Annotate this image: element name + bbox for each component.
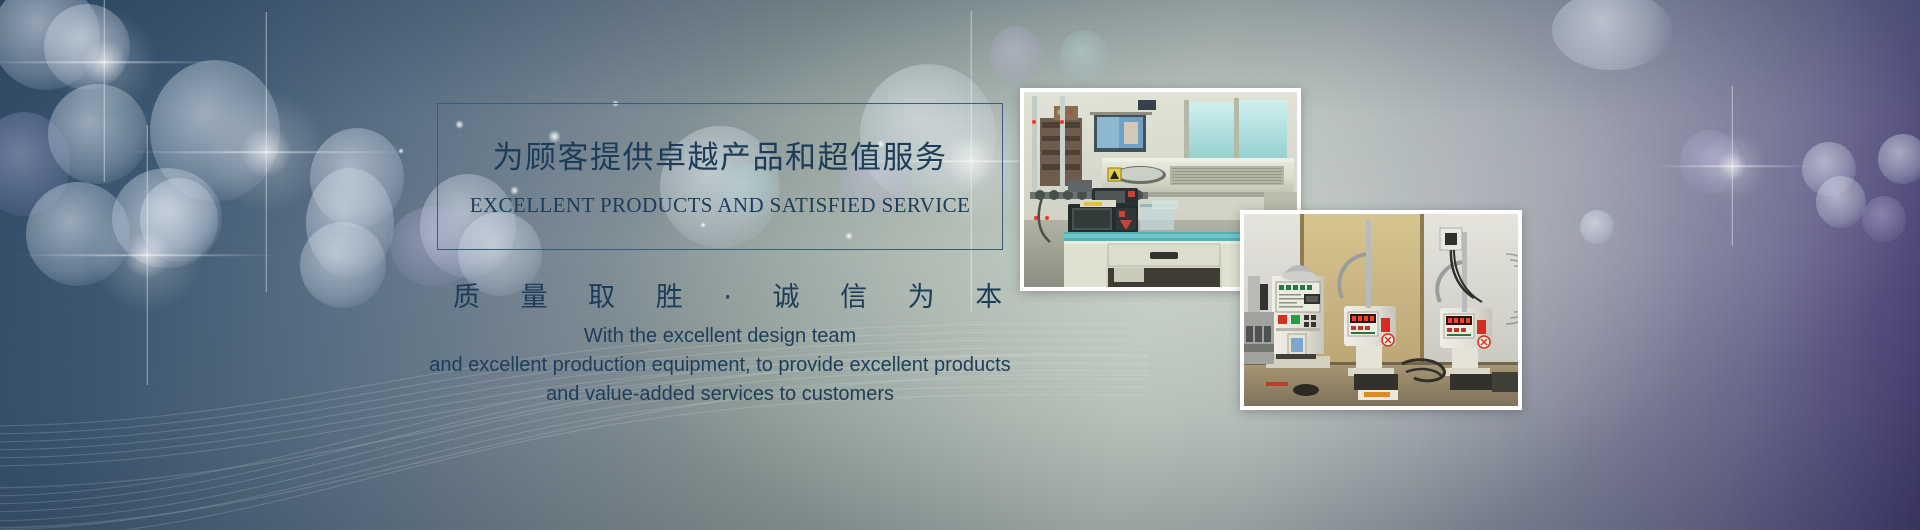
paragraph-line-1: With the excellent design team (330, 322, 1110, 351)
background-sheen (0, 0, 1920, 530)
paragraph-line-3: and value-added services to customers (330, 380, 1110, 409)
headline-english: EXCELLENT PRODUCTS AND SATISFIED SERVICE (437, 193, 1003, 218)
photo-press-machines[interactable] (1240, 210, 1522, 410)
slogan-chinese: 质 量 取 胜 · 诚 信 为 本 (437, 275, 1003, 314)
headline-chinese: 为顾客提供卓越产品和超值服务 (437, 132, 1003, 177)
photo-press-machines-image (1244, 214, 1518, 406)
paragraph-english: With the excellent design team and excel… (330, 322, 1110, 409)
company-banner: 为顾客提供卓越产品和超值服务 EXCELLENT PRODUCTS AND SA… (0, 0, 1920, 530)
paragraph-line-2: and excellent production equipment, to p… (330, 351, 1110, 380)
